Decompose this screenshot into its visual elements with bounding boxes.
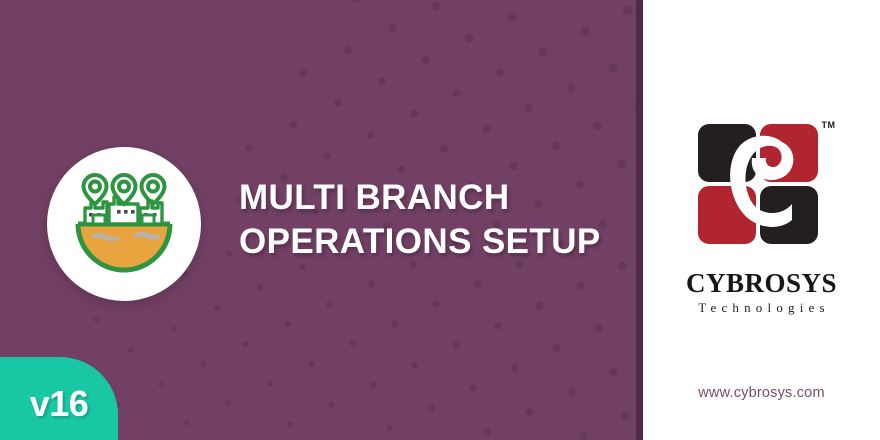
title-line-1: MULTI BRANCH [239,176,619,220]
cybrosys-logo: TM CYBROSYS Technologies [643,118,880,316]
logo-wordmark: CYBROSYS [643,268,880,298]
cybrosys-logo-mark: TM [686,118,838,258]
promo-banner: MULTI BRANCH OPERATIONS SETUP v16 TM [0,0,880,440]
logo-tiles-icon [686,118,838,258]
banner-title: MULTI BRANCH OPERATIONS SETUP [239,176,619,264]
right-logo-panel: TM CYBROSYS Technologies www.cybrosys.co… [643,0,880,440]
version-label: v16 [30,386,89,422]
multi-branch-globe-icon [72,172,176,276]
logo-subword: Technologies [643,300,880,316]
left-purple-panel: MULTI BRANCH OPERATIONS SETUP v16 [0,0,636,440]
website-url: www.cybrosys.com [643,385,880,401]
title-line-2: OPERATIONS SETUP [239,220,619,264]
map-pin-icon [84,175,107,204]
trademark-symbol: TM [822,120,836,130]
feature-icon-circle [47,147,201,301]
panel-divider [636,0,643,440]
